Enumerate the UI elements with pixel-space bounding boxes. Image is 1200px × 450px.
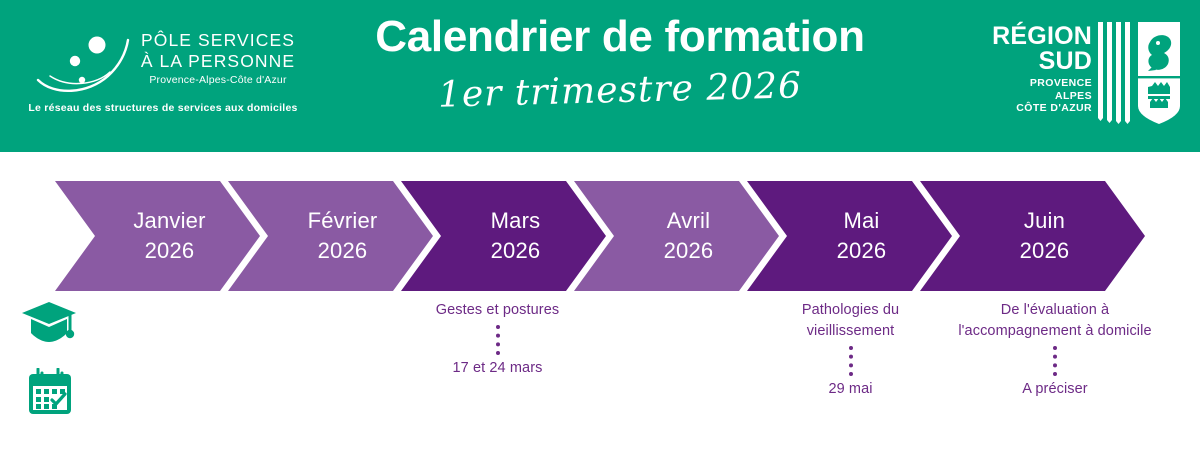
- session-date: A préciser: [955, 379, 1155, 399]
- chevron-year: 2026: [837, 236, 887, 266]
- session-title: Gestes et postures: [410, 300, 585, 321]
- wave-swoosh-with-dots-icon: [36, 28, 136, 100]
- graduation-cap-icon: [22, 300, 78, 344]
- chevron-year: 2026: [1020, 236, 1070, 266]
- chevron-month: Mai: [837, 206, 887, 236]
- chevron-label-group: Juin2026: [1020, 206, 1070, 266]
- session-connector-dots: [496, 325, 500, 355]
- chevron-label-group: Avril2026: [664, 206, 714, 266]
- chevron-year: 2026: [133, 236, 205, 266]
- chevron-year: 2026: [308, 236, 378, 266]
- chevron-year: 2026: [491, 236, 541, 266]
- region-line1: RÉGION: [980, 24, 1092, 49]
- chevron-month: Avril: [664, 206, 714, 236]
- session-connector-dots: [1053, 346, 1057, 376]
- psp-logo: PÔLE SERVICES À LA PERSONNE Provence-Alp…: [18, 20, 308, 132]
- session-connector-dots: [849, 346, 853, 376]
- chevron-month: Février: [308, 206, 378, 236]
- chevron-label-group: Mai2026: [837, 206, 887, 266]
- page-subtitle: 1er trimestre 2026: [319, 58, 920, 124]
- chevron-label-group: Février2026: [308, 206, 378, 266]
- session-date: 17 et 24 mars: [410, 358, 585, 378]
- session-title: De l'évaluation à l'accompagnement à dom…: [955, 300, 1155, 342]
- timeline-chevron-janvier[interactable]: Janvier2026: [55, 181, 260, 291]
- timeline-chevrons: Janvier2026Février2026Mars2026Avril2026M…: [0, 181, 1200, 291]
- session-column-mai[interactable]: Pathologies du vieillissement29 mai: [758, 300, 943, 399]
- region-sud-logo: RÉGION SUD PROVENCE ALPES CÔTE D'AZUR: [980, 22, 1180, 130]
- chevron-month: Mars: [491, 206, 541, 236]
- chevron-label-group: Mars2026: [491, 206, 541, 266]
- chevron-month: Juin: [1020, 206, 1070, 236]
- session-date: 29 mai: [758, 379, 943, 399]
- chevron-label-group: Janvier2026: [133, 206, 205, 266]
- psp-line1: PÔLE SERVICES: [130, 30, 306, 51]
- calendar-check-icon: [25, 368, 75, 416]
- header-banner: PÔLE SERVICES À LA PERSONNE Provence-Alp…: [0, 0, 1200, 152]
- chevron-month: Janvier: [133, 206, 205, 236]
- region-sub1: PROVENCE: [980, 77, 1092, 90]
- page-title: Calendrier de formation: [320, 8, 920, 66]
- region-sud-logo-text: RÉGION SUD PROVENCE ALPES CÔTE D'AZUR: [980, 24, 1092, 115]
- icon-rail: [22, 300, 82, 425]
- timeline-chevron-juin[interactable]: Juin2026: [920, 181, 1145, 291]
- psp-line2: À LA PERSONNE: [130, 51, 306, 72]
- region-sub3: CÔTE D'AZUR: [980, 102, 1092, 115]
- training-calendar-banner: PÔLE SERVICES À LA PERSONNE Provence-Alp…: [0, 0, 1200, 450]
- psp-tagline: Le réseau des structures de services aux…: [18, 102, 308, 114]
- psp-region-label: Provence-Alpes-Côte d'Azur: [130, 73, 306, 87]
- chevron-year: 2026: [664, 236, 714, 266]
- session-title: Pathologies du vieillissement: [758, 300, 943, 342]
- session-column-mars[interactable]: Gestes et postures17 et 24 mars: [410, 300, 585, 378]
- psp-logo-text: PÔLE SERVICES À LA PERSONNE Provence-Alp…: [130, 30, 306, 87]
- region-line2: SUD: [980, 49, 1092, 74]
- region-sud-shield-icon: [1098, 22, 1180, 124]
- region-sub2: ALPES: [980, 90, 1092, 103]
- session-column-juin[interactable]: De l'évaluation à l'accompagnement à dom…: [955, 300, 1155, 399]
- title-block: Calendrier de formation 1er trimestre 20…: [320, 8, 920, 116]
